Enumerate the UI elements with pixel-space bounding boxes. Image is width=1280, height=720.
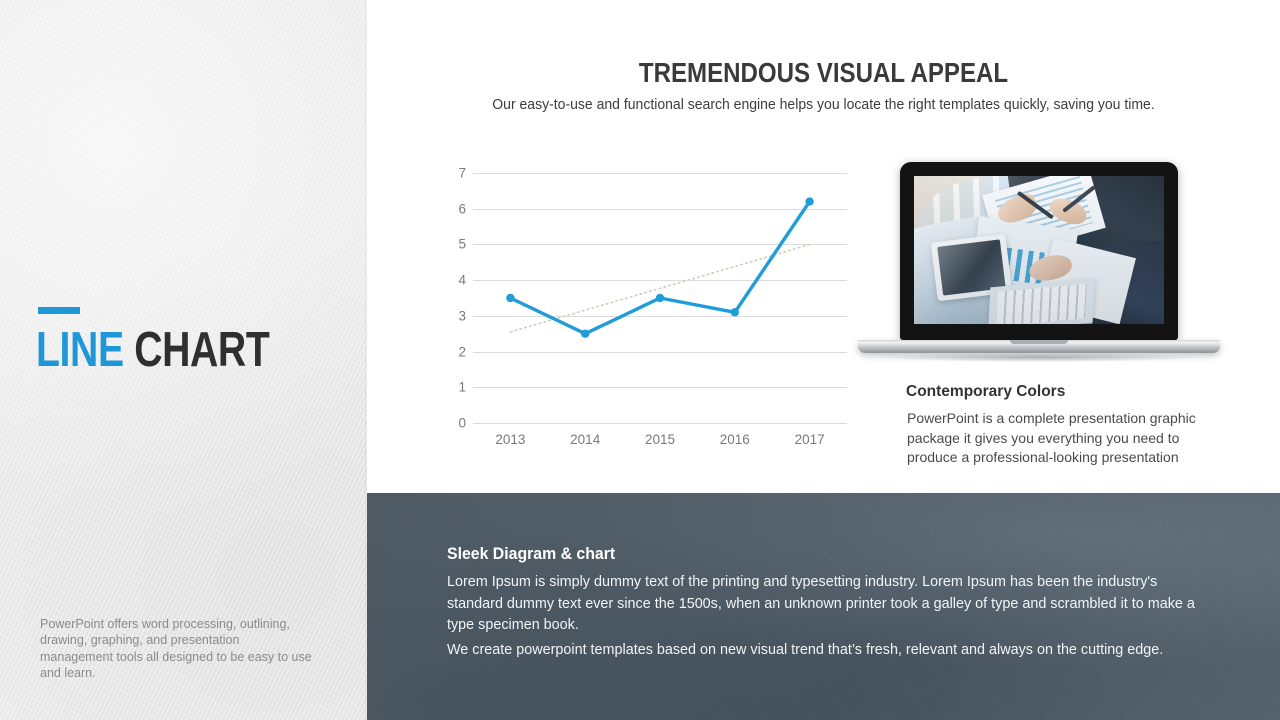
chart-gridline [473,423,847,424]
chart-x-axis: 20132014201520162017 [473,432,847,456]
chart-y-tick-label: 4 [440,273,466,288]
chart-y-tick-label: 5 [440,237,466,252]
section-title: TREMENDOUS VISUAL APPEAL [431,57,1216,89]
chart-plot-area [473,173,847,423]
laptop-trackpad-notch [1010,340,1068,344]
chart-data-point [805,197,813,205]
chart-x-tick-label: 2017 [795,432,825,447]
laptop-mockup [858,162,1220,367]
chart-y-tick-label: 7 [440,166,466,181]
chart-y-tick-label: 0 [440,416,466,431]
chart-svg [473,173,847,423]
page-title: LINE CHART [36,322,269,378]
chart-data-point [581,330,589,338]
photo-screen-gloss [914,176,1164,324]
section-subtitle: Our easy-to-use and functional search en… [385,95,1261,115]
laptop-base [858,340,1220,353]
chart-x-tick-label: 2016 [720,432,750,447]
line-chart: 76543210 20132014201520162017 [440,160,850,460]
chart-y-tick-label: 1 [440,380,466,395]
feature-heading: Contemporary Colors [906,383,1065,401]
band-paragraph-2: We create powerpoint templates based on … [447,640,1198,662]
chart-data-point [506,294,514,302]
chart-x-tick-label: 2015 [645,432,675,447]
chart-x-tick-label: 2014 [570,432,600,447]
chart-data-point [731,308,739,316]
chart-y-tick-label: 6 [440,201,466,216]
series-line-path [510,202,809,334]
page-title-word-1: LINE [36,323,124,377]
chart-y-axis: 76543210 [440,160,466,424]
band-paragraph-1: Lorem Ipsum is simply dummy text of the … [447,572,1198,637]
chart-y-tick-label: 2 [440,344,466,359]
sidebar-note-text: PowerPoint offers word processing, outli… [40,616,312,682]
band-heading: Sleek Diagram & chart [447,545,615,564]
chart-data-point [656,294,664,302]
page-title-word-2: CHART [134,323,269,377]
slide-canvas: LINE CHART PowerPoint offers word proces… [0,0,1280,720]
chart-x-tick-label: 2013 [495,432,525,447]
chart-y-tick-label: 3 [440,308,466,323]
accent-bar [38,307,80,314]
feature-body-text: PowerPoint is a complete presentation gr… [907,409,1219,468]
laptop-screen-image [914,176,1164,324]
laptop-lid [900,162,1178,340]
laptop-shadow [880,353,1198,362]
